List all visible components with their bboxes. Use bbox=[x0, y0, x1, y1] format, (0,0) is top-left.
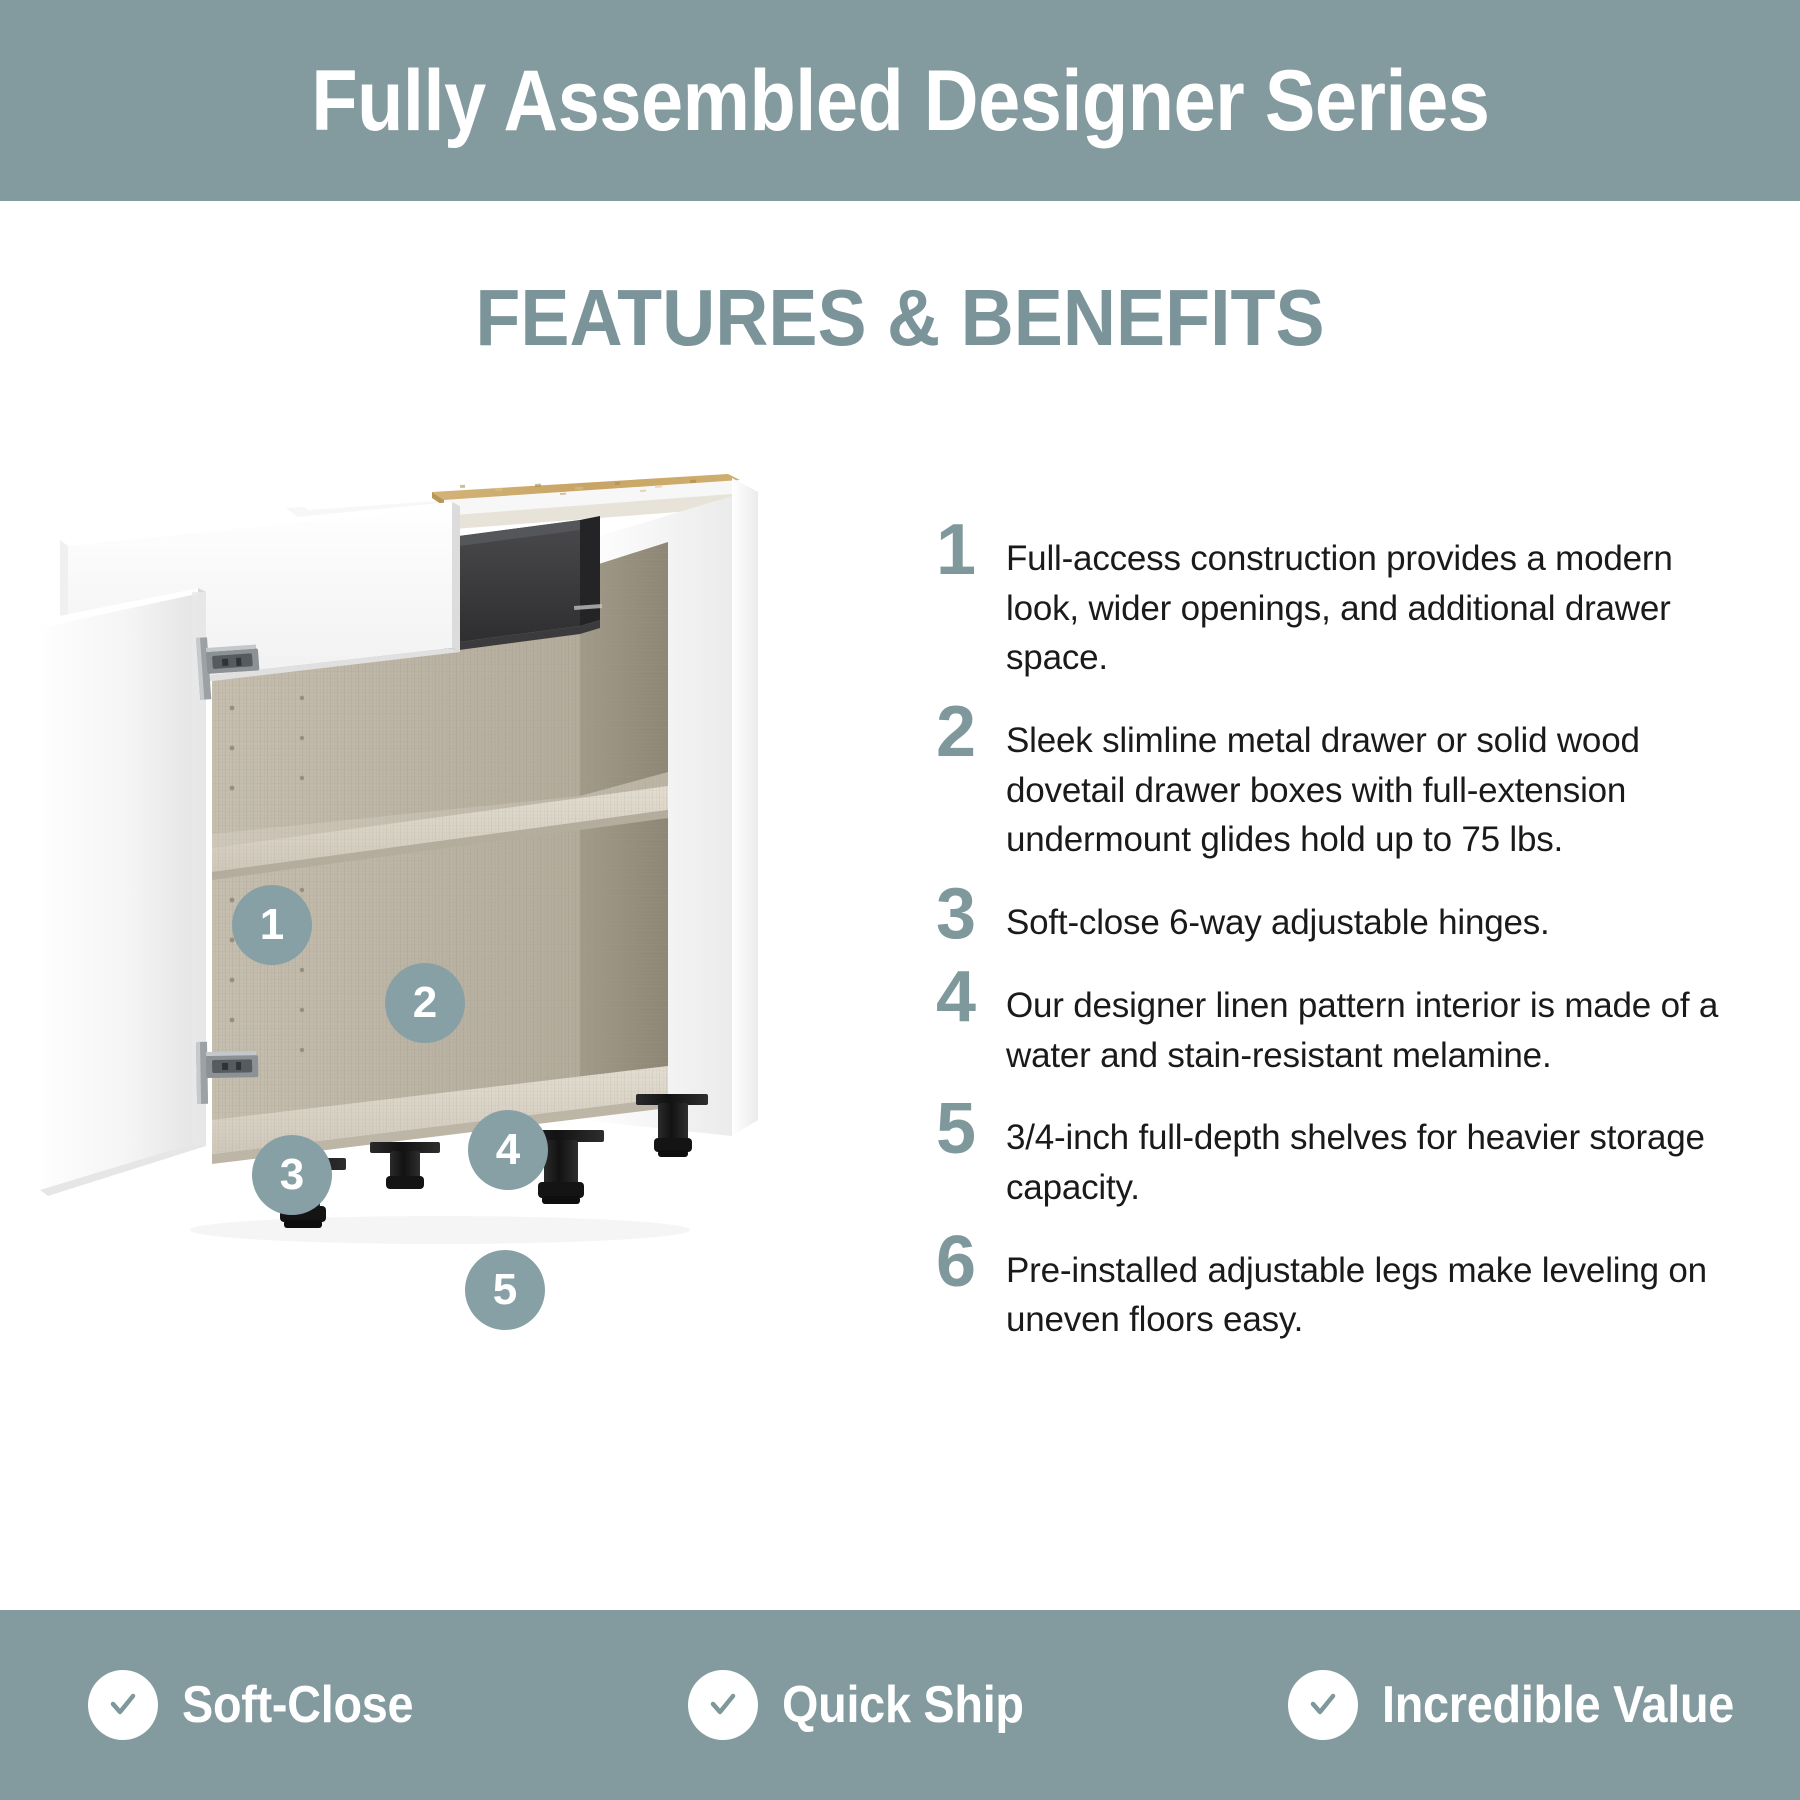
feature-item-3: 3 Soft-close 6-way adjustable hinges. bbox=[930, 884, 1720, 948]
features-list: 1 Full-access construction provides a mo… bbox=[930, 520, 1720, 1364]
check-icon bbox=[1288, 1670, 1358, 1740]
callout-badge-3-label: 3 bbox=[280, 1153, 304, 1197]
footer-label-incredible-value: Incredible Value bbox=[1382, 1679, 1734, 1731]
check-icon bbox=[88, 1670, 158, 1740]
feature-text-4: Our designer linen pattern interior is m… bbox=[1006, 967, 1720, 1080]
section-heading: FEATURES & BENEFITS bbox=[72, 278, 1728, 358]
feature-item-1: 1 Full-access construction provides a mo… bbox=[930, 520, 1720, 683]
feature-text-2: Sleek slimline metal drawer or solid woo… bbox=[1006, 702, 1720, 865]
feature-item-4: 4 Our designer linen pattern interior is… bbox=[930, 967, 1720, 1080]
feature-number-5: 5 bbox=[930, 1099, 1006, 1161]
footer-badge-quick-ship: Quick Ship bbox=[600, 1670, 1200, 1740]
callout-badge-3[interactable]: 3 bbox=[252, 1135, 332, 1215]
cabinet-illustration bbox=[40, 430, 800, 1350]
feature-text-5: 3/4-inch full-depth shelves for heavier … bbox=[1006, 1099, 1720, 1212]
callout-badge-4-label: 4 bbox=[496, 1128, 520, 1172]
footer-label-quick-ship: Quick Ship bbox=[782, 1679, 1024, 1731]
feature-text-1: Full-access construction provides a mode… bbox=[1006, 520, 1720, 683]
feature-text-6: Pre-installed adjustable legs make level… bbox=[1006, 1232, 1720, 1345]
feature-number-1: 1 bbox=[930, 520, 1006, 582]
check-icon bbox=[688, 1670, 758, 1740]
feature-number-3: 3 bbox=[930, 884, 1006, 946]
page-title: Fully Assembled Designer Series bbox=[311, 58, 1489, 144]
footer-bar: Soft-Close Quick Ship Incredible Value bbox=[0, 1610, 1800, 1800]
feature-item-2: 2 Sleek slimline metal drawer or solid w… bbox=[930, 702, 1720, 865]
feature-item-5: 5 3/4-inch full-depth shelves for heavie… bbox=[930, 1099, 1720, 1212]
cabinet-right-side bbox=[732, 478, 758, 1136]
metal-drawer-box bbox=[444, 516, 602, 652]
cabinet-door bbox=[40, 588, 206, 1196]
feature-item-6: 6 Pre-installed adjustable legs make lev… bbox=[930, 1232, 1720, 1345]
feature-number-4: 4 bbox=[930, 967, 1006, 1029]
callout-badge-2[interactable]: 2 bbox=[385, 963, 465, 1043]
feature-text-3: Soft-close 6-way adjustable hinges. bbox=[1006, 884, 1720, 948]
product-image: 1 2 3 4 5 6 bbox=[40, 430, 800, 1350]
footer-label-soft-close: Soft-Close bbox=[182, 1679, 413, 1731]
footer-badge-soft-close: Soft-Close bbox=[0, 1670, 600, 1740]
feature-number-2: 2 bbox=[930, 702, 1006, 764]
infographic-page: Fully Assembled Designer Series FEATURES… bbox=[0, 0, 1800, 1800]
callout-badge-5-label: 5 bbox=[493, 1268, 517, 1312]
callout-badge-5[interactable]: 5 bbox=[465, 1250, 545, 1330]
header-bar: Fully Assembled Designer Series bbox=[0, 0, 1800, 201]
footer-badge-incredible-value: Incredible Value bbox=[1200, 1670, 1800, 1740]
callout-badge-1-label: 1 bbox=[260, 903, 284, 947]
callout-badge-1[interactable]: 1 bbox=[232, 885, 312, 965]
feature-number-6: 6 bbox=[930, 1232, 1006, 1294]
callout-badge-4[interactable]: 4 bbox=[468, 1110, 548, 1190]
callout-badge-2-label: 2 bbox=[413, 981, 437, 1025]
